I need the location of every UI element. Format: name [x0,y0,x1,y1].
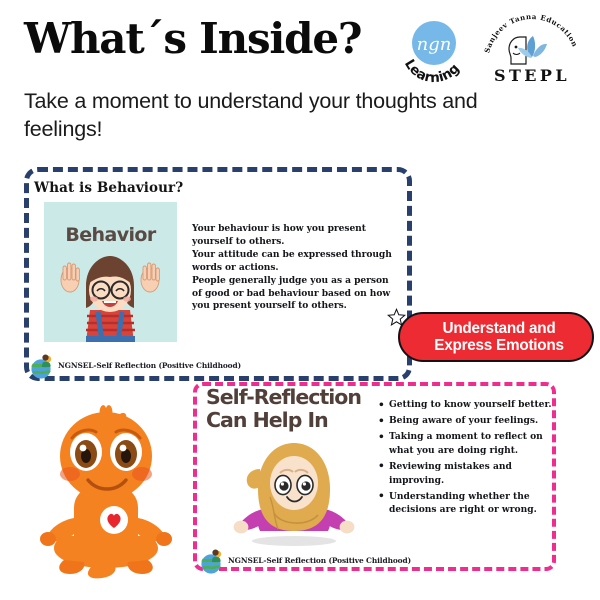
behaviour-illustration-caption: Behavior [44,224,177,246]
card1-body-line-3: People generally judge you as a person o… [192,275,392,314]
card2-title-line-2: Can Help In [206,408,328,432]
card1-footer: NGNSEL-Self Reflection (Positive Childho… [28,352,241,380]
list-item: Understanding whether the decisions are … [389,490,561,518]
card1-body-line-2: Your attitude can be expressed through w… [192,249,392,275]
girl-with-glasses-figure [50,246,170,342]
behaviour-illustration: Behavior [44,202,177,342]
card1-body: Your behaviour is how you present yourse… [192,223,392,313]
card1-title: What is Behaviour? [34,180,183,196]
card2-footer-label: NGNSEL-Self Reflection (Positive Childho… [228,556,411,566]
list-item: Reviewing mistakes and improving. [389,460,561,488]
card2-bullet-list: Getting to know yourself better. Being a… [378,398,561,519]
badge-line-2: Express Emotions [434,337,563,354]
star-icon [387,308,406,327]
card1-body-line-1: Your behaviour is how you present yourse… [192,223,392,249]
stepl-logo: Sanjeev Tanna Education STEPL [480,13,584,85]
list-item: Taking a moment to reflect on what you a… [389,430,561,458]
list-item: Getting to know yourself better. [389,398,561,412]
svg-text:STEPL: STEPL [494,66,570,85]
globe-child-icon [198,547,226,575]
ngn-learning-logo: ngn Learning [396,14,468,86]
svg-text:ngn: ngn [417,34,452,55]
poster-canvas: What´s Inside? Take a moment to understa… [0,0,600,600]
page-subtitle: Take a moment to understand your thought… [24,88,524,143]
globe-child-icon [28,352,56,380]
orange-mascot [22,404,190,580]
card1-footer-label: NGNSEL-Self Reflection (Positive Childho… [58,361,241,371]
card2-footer: NGNSEL-Self Reflection (Positive Childho… [198,547,411,575]
girl-in-hijab-figure [230,435,356,547]
list-item: Being aware of your feelings. [389,414,561,428]
badge-line-1: Understand and [443,320,556,337]
card2-title: Self-Reflection Can Help In [206,386,391,432]
card2-title-line-1: Self-Reflection [206,385,361,409]
understand-express-emotions-badge[interactable]: Understand and Express Emotions [398,312,594,362]
page-title: What´s Inside? [24,18,361,60]
badge-text: Understand and Express Emotions [428,320,563,355]
